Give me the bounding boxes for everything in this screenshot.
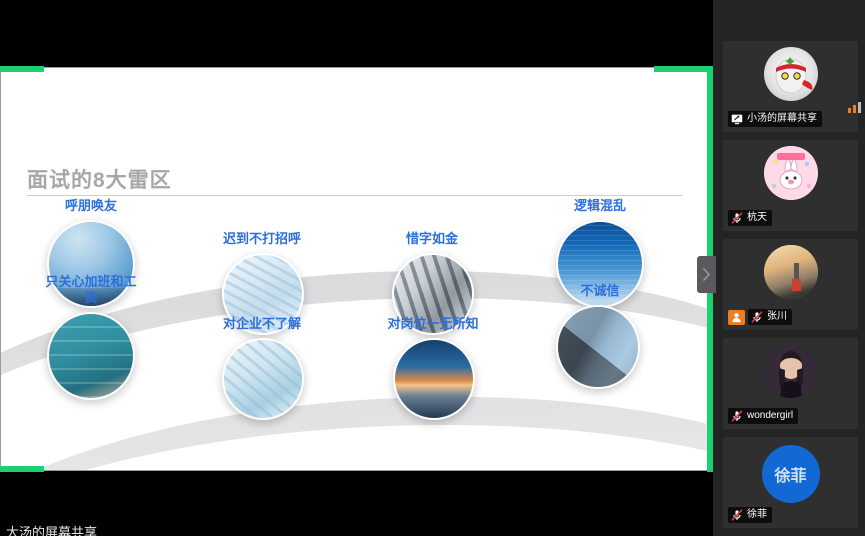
mic-muted-chip: 杭天 [728, 210, 772, 226]
participant-name: 杭天 [747, 211, 767, 225]
initials-avatar: 徐菲 [762, 445, 820, 503]
participant-badges-2: 杭天 [728, 210, 772, 226]
participant-name: 小汤的屏幕共享 [747, 112, 817, 126]
santa-cartoon-avatar [764, 47, 818, 101]
mic-muted-icon [731, 410, 743, 422]
node-label: 不诚信 [580, 283, 619, 299]
sunset-photo-icon [764, 245, 818, 299]
participants-panel: 小汤的屏幕共享 [713, 0, 865, 536]
person-icon [731, 312, 742, 323]
signal-bar-3 [858, 102, 861, 113]
sunset-photo-avatar [764, 245, 818, 299]
slide-node-6: 对企业不了解 [214, 316, 310, 434]
participant-badges-4: wondergirl [728, 408, 798, 424]
rabbit-cartoon-avatar [764, 146, 818, 200]
participant-tile-2[interactable]: 杭天 [723, 140, 858, 231]
mic-muted-chip: wondergirl [728, 408, 798, 424]
share-border-bottom-left [0, 466, 44, 472]
participant-tile-1[interactable]: 小汤的屏幕共享 [723, 41, 858, 132]
participant-badges-5: 徐菲 [728, 507, 772, 523]
participant-tile-5[interactable]: 徐菲 徐菲 [723, 437, 858, 528]
participant-name: wondergirl [747, 409, 793, 423]
slide-title: 面试的8大雷区 [27, 164, 172, 194]
bottom-cropped-caption: 大汤的屏幕共享 [6, 525, 97, 536]
presentation-slide[interactable]: 面试的8大雷区 呼朋唤友 迟到不打招呼 惜字如金 逻辑混乱 [1, 68, 710, 470]
meeting-screen-share-window: 面试的8大雷区 呼朋唤友 迟到不打招呼 惜字如金 逻辑混乱 [0, 0, 865, 536]
host-badge [728, 310, 745, 325]
participant-badges-3: 张川 [728, 309, 792, 325]
mic-muted-chip: 徐菲 [728, 507, 772, 523]
share-border-top-right [654, 66, 713, 72]
participant-tile-4[interactable]: wondergirl [723, 338, 858, 429]
screen-share-icon [731, 114, 743, 125]
mic-muted-icon [731, 212, 743, 224]
mic-muted-icon [731, 509, 743, 521]
node-label: 惜字如金 [406, 231, 458, 247]
node-label: 对企业不了解 [223, 316, 301, 332]
mic-muted-chip: 张川 [748, 309, 792, 325]
screen-share-chip: 小汤的屏幕共享 [728, 111, 822, 127]
node-label: 逻辑混乱 [574, 198, 626, 214]
slide-node-5: 只关心加班和工资 [41, 274, 141, 414]
slide-node-8: 不诚信 [552, 283, 648, 405]
participant-badges-1: 小汤的屏幕共享 [728, 111, 822, 127]
santa-cartoon-icon [764, 47, 818, 101]
collapse-panel-button[interactable] [697, 256, 716, 293]
node-label: 对岗位一无所知 [387, 316, 478, 332]
signal-bar-2 [853, 105, 856, 113]
office-photo [47, 312, 135, 400]
node-label: 呼朋唤友 [65, 198, 117, 214]
participant-tile-3[interactable]: 张川 [723, 239, 858, 330]
sunset-sky-photo [393, 338, 475, 420]
chevron-right-icon [702, 268, 711, 281]
portrait-photo-icon [764, 344, 818, 398]
share-border-top-left [0, 66, 44, 72]
network-signal-indicator [848, 101, 861, 113]
building-photo [556, 305, 640, 389]
mic-muted-icon [751, 311, 763, 323]
glass-building-photo [222, 338, 304, 420]
slide-node-7: 对岗位一无所知 [381, 316, 485, 434]
rabbit-cartoon-icon [764, 146, 818, 200]
node-label: 只关心加班和工资 [43, 274, 139, 306]
participant-name: 张川 [767, 310, 787, 324]
signal-bar-1 [848, 108, 851, 113]
portrait-photo-avatar [764, 344, 818, 398]
title-divider [27, 195, 682, 196]
node-label: 迟到不打招呼 [223, 231, 301, 247]
participant-name: 徐菲 [747, 508, 767, 522]
shared-screen-region: 面试的8大雷区 呼朋唤友 迟到不打招呼 惜字如金 逻辑混乱 [0, 0, 713, 536]
